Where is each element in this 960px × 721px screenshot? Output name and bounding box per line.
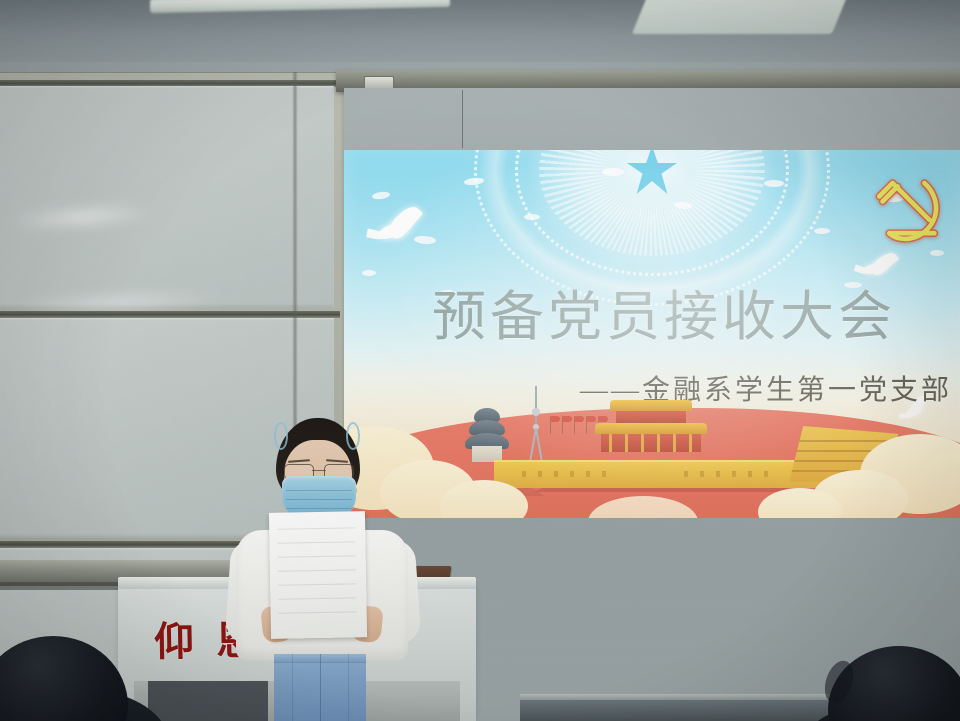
gate-upper-roof <box>610 400 692 411</box>
speech-paper <box>269 511 367 639</box>
desk-edge <box>520 700 850 721</box>
fluorescent-ceiling-light <box>150 0 450 13</box>
cpc-hammer-sickle-emblem-icon <box>864 168 948 260</box>
cloud-speck <box>414 235 437 245</box>
temple-of-heaven-icon <box>464 404 510 462</box>
oriental-pearl-tower-icon <box>532 386 540 462</box>
gate-upper-body <box>616 411 686 423</box>
screen-pull-cord <box>462 90 463 148</box>
slide-skyline-graphic <box>344 368 960 518</box>
mask-ear-loop <box>346 422 360 450</box>
gate-lower-roof <box>595 423 707 434</box>
whiteboard-glare <box>5 201 156 233</box>
cloud-speck <box>602 168 624 176</box>
cloud-speck <box>362 270 376 276</box>
jeans-seam <box>292 654 293 721</box>
cloud-speck <box>372 191 391 200</box>
tower-mast <box>535 386 537 426</box>
tiananmen-gate-icon <box>576 400 726 466</box>
cloud-speck <box>764 180 784 187</box>
cloud-speck <box>524 214 540 220</box>
cloud-speck <box>814 228 830 234</box>
city-wall <box>494 460 824 488</box>
presenter <box>228 418 418 721</box>
mask-ear-loop <box>274 422 288 450</box>
whiteboard-panel <box>0 86 334 308</box>
gate-lower-body <box>601 434 701 452</box>
blue-jeans <box>274 654 366 721</box>
fluorescent-ceiling-light <box>632 0 848 34</box>
tower-sphere <box>532 408 540 416</box>
jeans-seam <box>320 654 321 721</box>
slide-title: 预备党员接收大会 <box>432 272 896 351</box>
photo-scene: 预备党员接收大会 ——金融系学生第一党支部 2022年5月25日 <box>0 0 960 721</box>
jeans-seam <box>348 654 349 721</box>
presentation-slide: 预备党员接收大会 ——金融系学生第一党支部 2022年5月25日 <box>344 150 960 518</box>
